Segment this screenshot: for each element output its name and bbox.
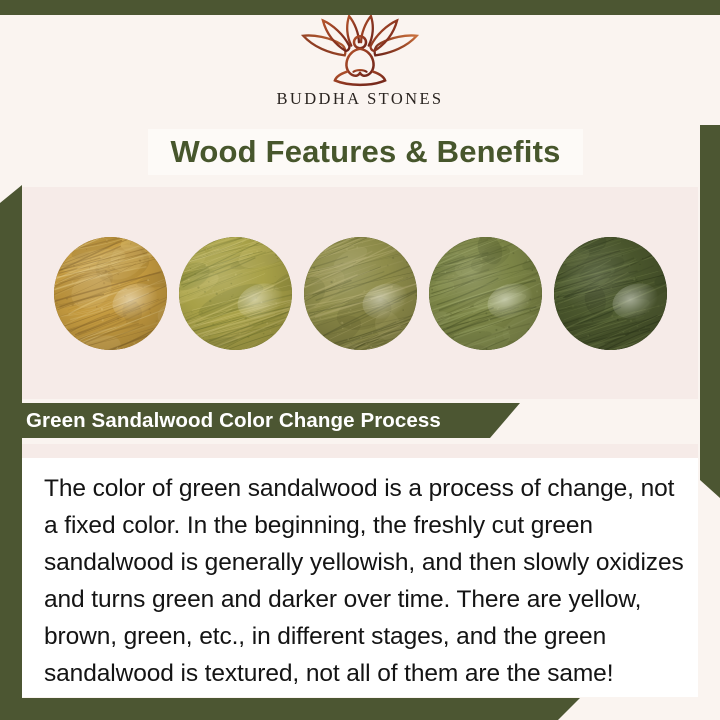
- lotus-meditation-icon: [294, 15, 426, 87]
- header: BUDDHA STONES: [0, 15, 720, 125]
- bead-stage-2-olive-yellow: [179, 237, 292, 350]
- page-title: Wood Features & Benefits: [170, 134, 560, 170]
- bead-stage-4-green: [429, 237, 542, 350]
- section-banner-label: Green Sandalwood Color Change Process: [26, 409, 441, 433]
- product-info-poster: BUDDHA STONES Wood Features & Benefits G…: [0, 0, 720, 720]
- frame-bottom-bar: [0, 698, 580, 720]
- frame-left-bar: [0, 185, 22, 720]
- bead-stage-5-dark-green: [554, 237, 667, 350]
- brand-name: BUDDHA STONES: [276, 89, 443, 109]
- body-paragraph: The color of green sandalwood is a proce…: [44, 470, 692, 692]
- title-band: Wood Features & Benefits: [148, 129, 583, 175]
- bead-stage-3-olive: [304, 237, 417, 350]
- body-card-top-strip: [22, 444, 698, 458]
- bead-stage-1-yellow-tan: [54, 237, 167, 350]
- section-banner: Green Sandalwood Color Change Process: [10, 403, 520, 438]
- frame-top-bar: [0, 0, 720, 15]
- body-card: The color of green sandalwood is a proce…: [22, 444, 698, 697]
- brand-logo: BUDDHA STONES: [0, 15, 720, 109]
- beads-panel: [22, 187, 698, 399]
- bead-color-stage-row: [22, 187, 698, 399]
